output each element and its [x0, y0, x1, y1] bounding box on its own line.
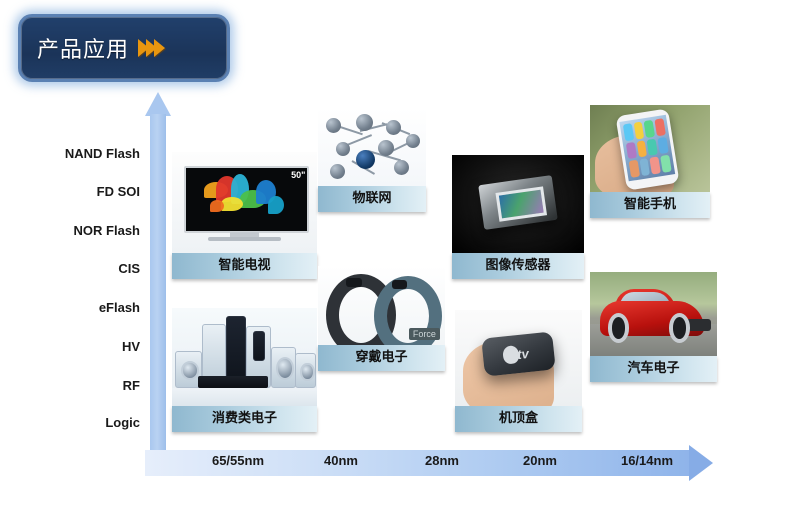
smartphone-icon: [590, 105, 710, 192]
appliances-icon: [172, 308, 317, 406]
image-sensor-icon: [452, 155, 584, 253]
x-axis-arrowhead: [689, 445, 713, 481]
x-axis-label-40nm: 40nm: [324, 453, 358, 468]
y-axis-label-hv: HV: [122, 339, 140, 354]
y-axis-arrow: [145, 92, 171, 460]
product-card-smartphone[interactable]: 智能手机: [590, 105, 710, 218]
car-icon: [590, 272, 717, 356]
apple-tv-wordmark: tv: [516, 345, 529, 361]
y-axis-label-nor-flash: NOR Flash: [74, 223, 140, 238]
page-title: 产品应用: [37, 32, 129, 64]
product-card-image-sensor[interactable]: 图像传感器: [452, 155, 584, 279]
title-badge: 产品应用: [18, 14, 230, 82]
y-axis-shaft: [150, 114, 166, 460]
product-card-smart-tv[interactable]: 50" 智能电视: [172, 152, 317, 279]
product-card-iot[interactable]: 物联网: [318, 108, 426, 212]
product-label-smartphone: 智能手机: [590, 192, 710, 218]
watermark-force: Force: [409, 328, 440, 340]
product-label-automotive: 汽车电子: [590, 356, 717, 382]
y-axis-label-nand-flash: NAND Flash: [65, 146, 140, 161]
y-axis-label-rf: RF: [123, 378, 140, 393]
y-axis-label-logic: Logic: [105, 415, 140, 430]
x-axis-label-20nm: 20nm: [523, 453, 557, 468]
y-axis-arrowhead: [145, 92, 171, 116]
product-label-wearable: 穿戴电子: [318, 345, 445, 371]
product-label-image-sensor: 图像传感器: [452, 253, 584, 279]
x-axis-label-65-55nm: 65/55nm: [212, 453, 264, 468]
y-axis-label-eflash: eFlash: [99, 300, 140, 315]
fitness-band-icon: Force: [318, 266, 445, 345]
product-label-consumer-electronics: 消费类电子: [172, 406, 317, 432]
chevron-right-icon: [154, 39, 165, 57]
product-label-set-top-box: 机顶盒: [455, 406, 582, 432]
network-icon: [318, 108, 426, 186]
product-card-consumer-electronics[interactable]: 消费类电子: [172, 308, 317, 432]
chevron-group: [141, 39, 165, 57]
product-label-iot: 物联网: [318, 186, 426, 212]
x-axis-label-16-14nm: 16/14nm: [621, 453, 673, 468]
product-card-set-top-box[interactable]: tv 机顶盒: [455, 310, 582, 432]
product-card-automotive[interactable]: 汽车电子: [590, 272, 717, 382]
x-axis-label-28nm: 28nm: [425, 453, 459, 468]
set-top-box-icon: tv: [455, 310, 582, 406]
tv-size-badge: 50": [291, 170, 305, 180]
product-card-wearable[interactable]: Force 穿戴电子: [318, 266, 445, 371]
y-axis-label-cis: CIS: [118, 261, 140, 276]
y-axis-label-fd-soi: FD SOI: [97, 184, 140, 199]
product-label-smart-tv: 智能电视: [172, 253, 317, 279]
tv-icon: 50": [172, 152, 317, 253]
